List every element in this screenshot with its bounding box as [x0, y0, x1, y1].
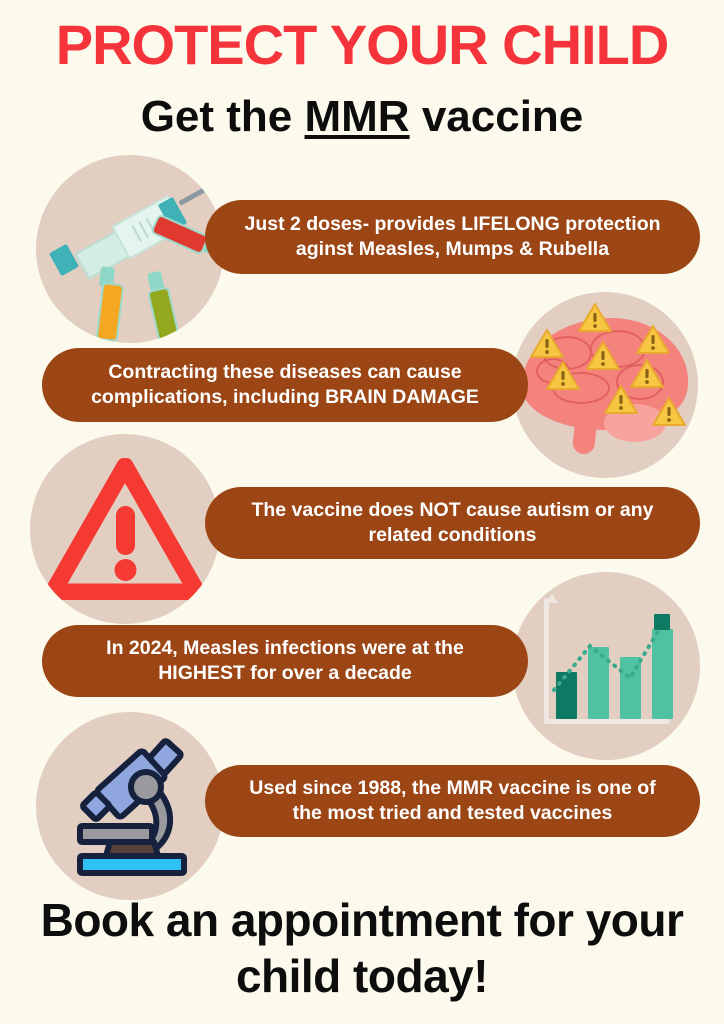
fact-line-1: Contracting these diseases can cause: [91, 360, 479, 385]
alert-triangle-circle: [30, 434, 220, 624]
warning-triangle-icon: [530, 328, 564, 359]
fact-line-1: In 2024, Measles infections were at the: [106, 636, 464, 661]
warning-triangle-icon: [586, 340, 620, 371]
chart-plot-area: [538, 594, 676, 736]
alert-triangle-icon: [47, 458, 203, 600]
subtitle-underlined-mmr: MMR: [305, 92, 410, 141]
fact-line-2: HIGHEST for over a decade: [106, 661, 464, 686]
warning-triangle-icon: [604, 384, 638, 415]
brain-warning-icon: [512, 292, 698, 478]
chart-trend-end-marker: [654, 614, 670, 630]
brain-stem: [572, 409, 598, 455]
warning-triangle-icon: [652, 396, 686, 427]
microscope-icon: [58, 734, 204, 880]
syringe-plunger: [49, 244, 79, 276]
fact-banner-since-1988: Used since 1988, the MMR vaccine is one …: [205, 765, 700, 837]
warning-triangle-icon: [636, 324, 670, 355]
fact-line-2: the most tried and tested vaccines: [249, 801, 655, 826]
warning-triangle-icon: [546, 360, 580, 391]
fact-banner-doses: Just 2 doses- provides LIFELONG protecti…: [205, 200, 700, 274]
fact-line-1: The vaccine does NOT cause autism or any: [251, 498, 653, 523]
page-title: PROTECT YOUR CHILD: [0, 14, 724, 76]
subtitle-suffix: vaccine: [410, 92, 584, 141]
call-to-action: Book an appointment for your child today…: [14, 892, 710, 1004]
fact-line-2: complications, including BRAIN DAMAGE: [91, 385, 479, 410]
fact-line-1: Just 2 doses- provides LIFELONG protecti…: [244, 212, 660, 237]
fact-banner-2024-cases: In 2024, Measles infections were at the …: [42, 625, 528, 697]
microscope-circle: [36, 712, 224, 900]
fact-banner-complications: Contracting these diseases can cause com…: [42, 348, 528, 422]
page-subtitle: Get the MMR vaccine: [0, 90, 724, 144]
fact-line-1: Used since 1988, the MMR vaccine is one …: [249, 776, 655, 801]
syringe-vials-icon: [36, 155, 224, 343]
fact-line-2: aginst Measles, Mumps & Rubella: [244, 237, 660, 262]
subtitle-prefix: Get the: [141, 92, 305, 141]
fact-line-2: related conditions: [251, 523, 653, 548]
infographic-poster: PROTECT YOUR CHILD Get the MMR vaccine J…: [0, 0, 724, 1024]
fact-banner-autism: The vaccine does NOT cause autism or any…: [205, 487, 700, 559]
bar-chart-icon: [512, 572, 700, 760]
syringe-needle: [178, 173, 224, 205]
warning-triangle-icon: [578, 302, 612, 333]
